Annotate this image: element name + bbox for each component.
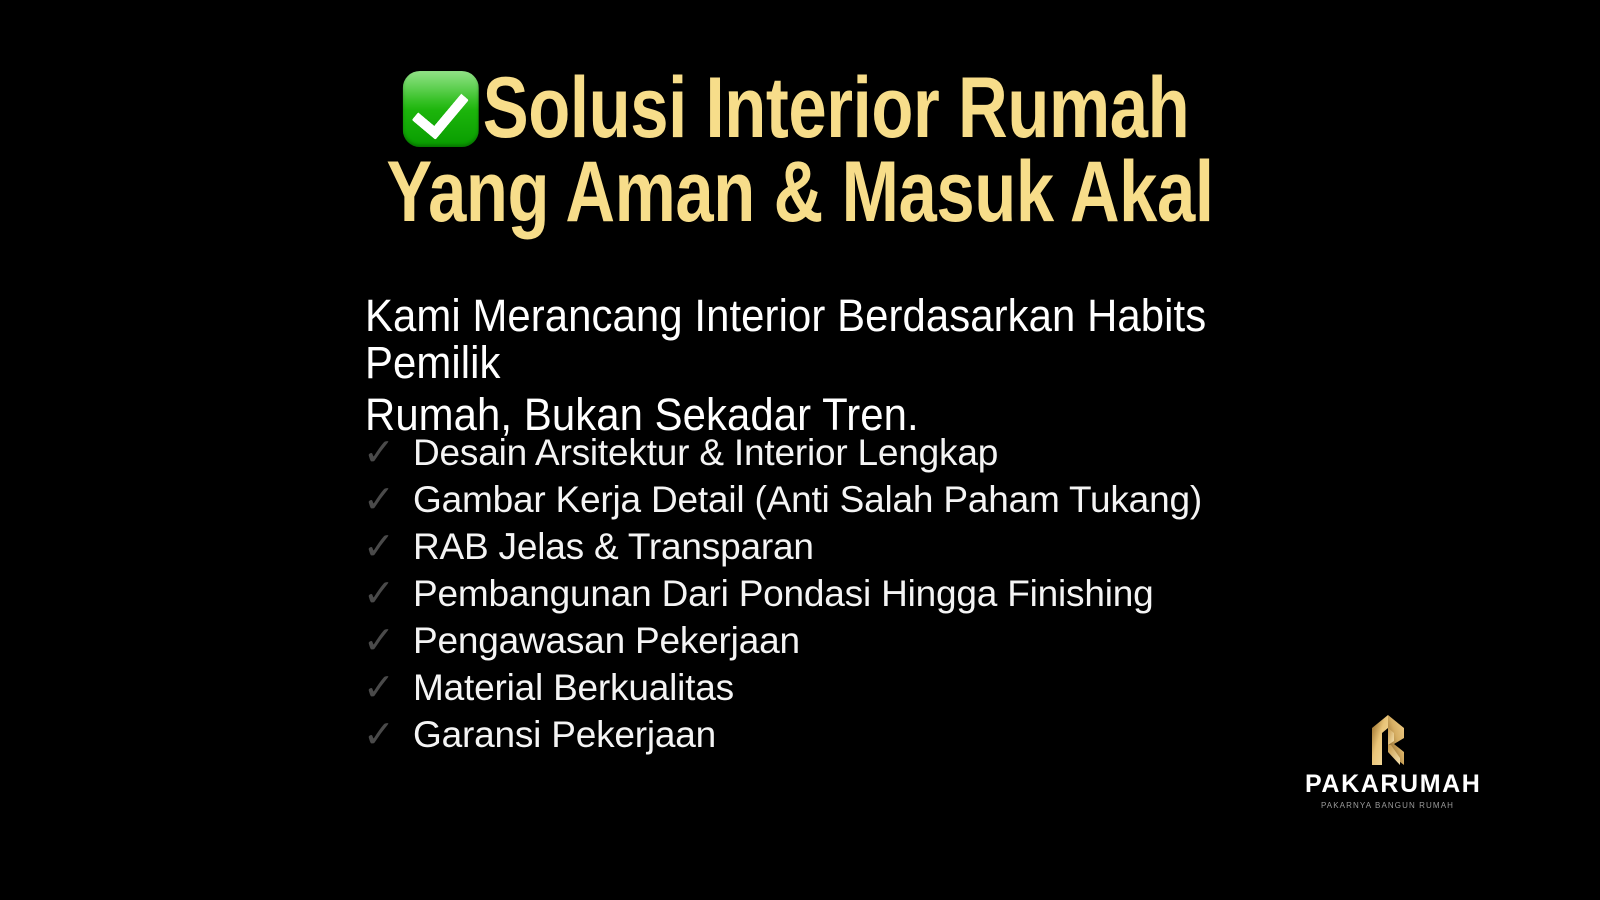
check-icon: ✓ <box>363 668 413 706</box>
list-item-label: Pembangunan Dari Pondasi Hingga Finishin… <box>413 575 1154 612</box>
check-icon: ✓ <box>363 480 413 518</box>
list-item-label: Garansi Pekerjaan <box>413 716 716 753</box>
list-item: ✓ RAB Jelas & Transparan <box>363 527 1423 574</box>
logo-wordmark: PAKARUMAH <box>1305 772 1470 797</box>
list-item: ✓ Garansi Pekerjaan <box>363 715 1423 762</box>
list-item-label: RAB Jelas & Transparan <box>413 528 814 565</box>
list-item: ✓ Material Berkualitas <box>363 668 1423 715</box>
page-title: Solusi Interior Rumah Yang Aman & Masuk … <box>0 68 1600 233</box>
list-item: ✓ Desain Arsitektur & Interior Lengkap <box>363 433 1423 480</box>
subtitle-line-2: Rumah, Bukan Sekadar Tren. <box>365 391 1314 438</box>
white-check-mark-emoji <box>403 71 479 147</box>
feature-list: ✓ Desain Arsitektur & Interior Lengkap ✓… <box>363 433 1423 762</box>
brand-logo: PAKARUMAH PAKARNYA BANGUN RUMAH <box>1305 714 1470 810</box>
check-icon: ✓ <box>363 574 413 612</box>
subtitle-line-1: Kami Merancang Interior Berdasarkan Habi… <box>365 292 1314 387</box>
check-icon: ✓ <box>363 433 413 471</box>
list-item: ✓ Gambar Kerja Detail (Anti Salah Paham … <box>363 480 1423 527</box>
subtitle: Kami Merancang Interior Berdasarkan Habi… <box>365 292 1314 438</box>
list-item-label: Gambar Kerja Detail (Anti Salah Paham Tu… <box>413 481 1202 518</box>
check-icon: ✓ <box>363 527 413 565</box>
list-item: ✓ Pembangunan Dari Pondasi Hingga Finish… <box>363 574 1423 621</box>
check-icon: ✓ <box>363 621 413 659</box>
list-item: ✓ Pengawasan Pekerjaan <box>363 621 1423 668</box>
list-item-label: Pengawasan Pekerjaan <box>413 622 800 659</box>
check-icon: ✓ <box>363 715 413 753</box>
pakarumah-house-r-monogram-icon <box>1360 714 1416 766</box>
title-line-1-text: Solusi Interior Rumah <box>483 60 1189 156</box>
title-line-2: Yang Aman & Masuk Akal <box>160 152 1440 234</box>
list-item-label: Desain Arsitektur & Interior Lengkap <box>413 434 998 471</box>
list-item-label: Material Berkualitas <box>413 669 734 706</box>
logo-tagline: PAKARNYA BANGUN RUMAH <box>1305 802 1470 810</box>
promo-slide: Solusi Interior Rumah Yang Aman & Masuk … <box>0 0 1600 900</box>
